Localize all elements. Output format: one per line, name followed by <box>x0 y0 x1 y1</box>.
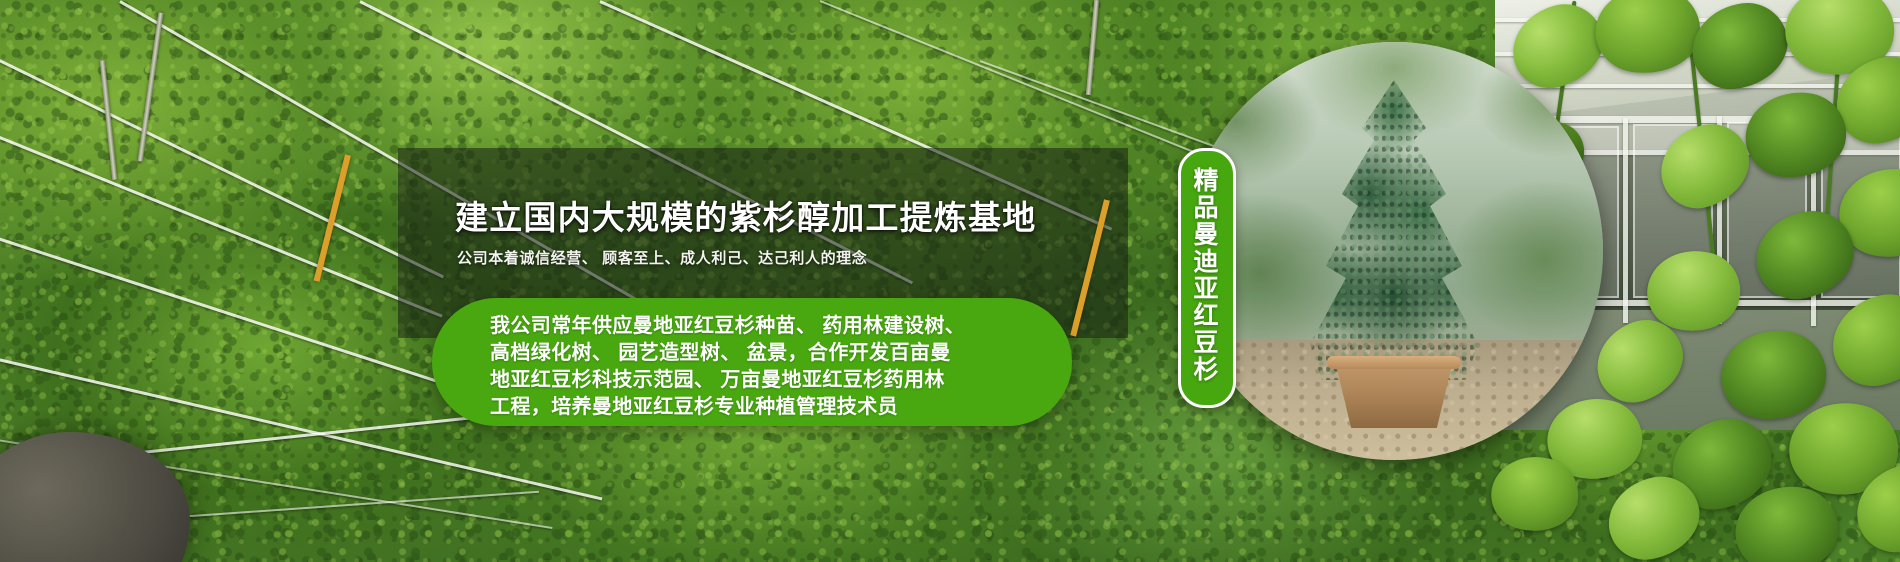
callout-body-text: 我公司常年供应曼地亚红豆杉种苗、 药用林建设树、 高档绿化树、 园艺造型树、 盆… <box>490 313 1050 421</box>
callout-line: 地亚红豆杉科技示范园、 万亩曼地亚红豆杉药用林 <box>490 367 1050 394</box>
product-photo-circle <box>1185 42 1603 460</box>
trellis-post <box>1086 0 1099 95</box>
callout-line: 高档绿化树、 园艺造型树、 盆景，合作开发百亩曼 <box>490 340 1050 367</box>
page-subtitle: 公司本着诚信经营、 顾客至上、成人利己、达己利人的理念 <box>457 247 1097 268</box>
flower-pot <box>1331 360 1457 428</box>
promotional-banner: 建立国内大规模的紫杉醇加工提炼基地 公司本着诚信经营、 顾客至上、成人利己、达己… <box>0 0 1900 562</box>
callout-line: 我公司常年供应曼地亚红豆杉种苗、 药用林建设树、 <box>490 313 1050 340</box>
trellis-post <box>100 60 118 180</box>
vertical-label-text: 精品曼迪亚红豆杉 <box>1178 148 1230 402</box>
callout-line: 工程，培养曼地亚红豆杉专业种植管理技术员 <box>490 394 1050 421</box>
page-title: 建立国内大规模的紫杉醇加工提炼基地 <box>455 191 1095 239</box>
flower-pot-rim <box>1327 356 1461 369</box>
